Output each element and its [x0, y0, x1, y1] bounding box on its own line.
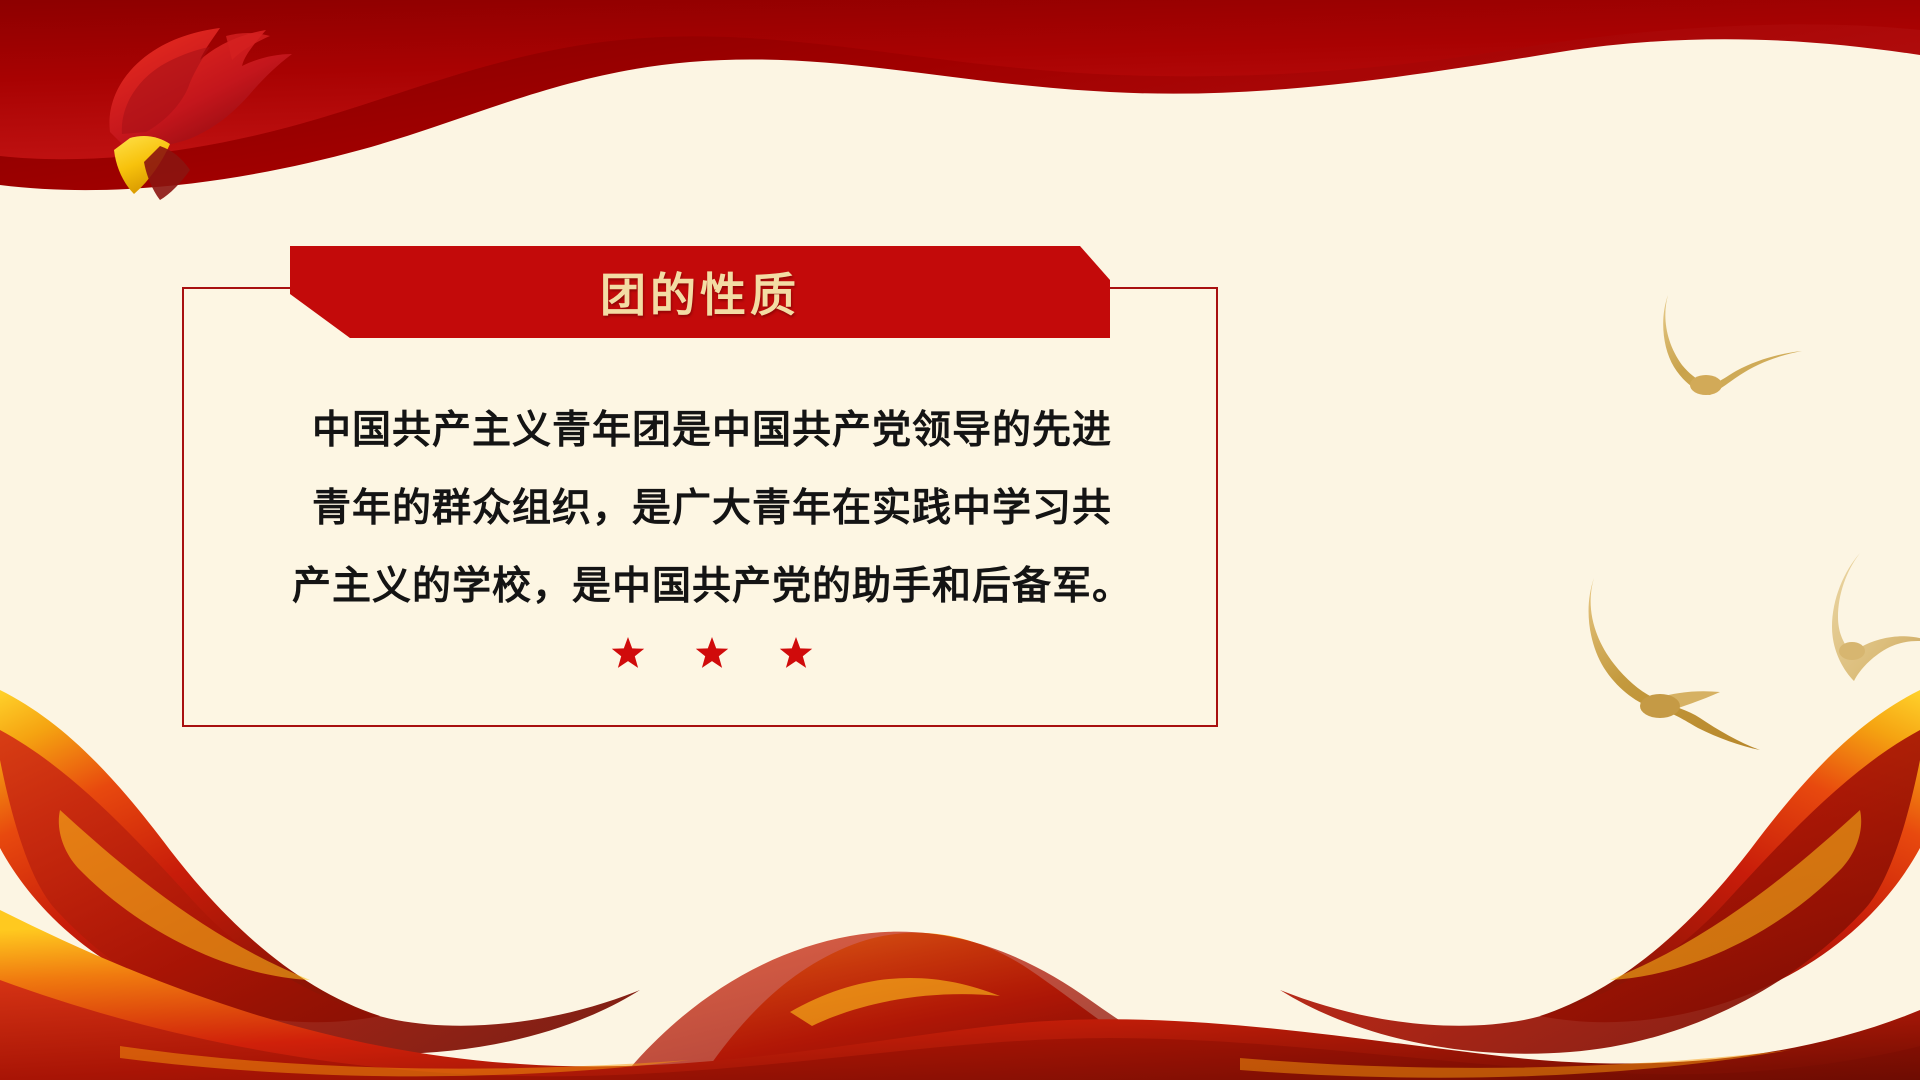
- dove-2-icon: [1580, 560, 1810, 760]
- title-banner: 团的性质: [290, 246, 1110, 338]
- body-line-3: 产主义的学校，是中国共产党的助手和后备军。: [282, 548, 1142, 626]
- star-divider: [282, 636, 1142, 670]
- body-line-1: 中国共产主义青年团是中国共产党领导的先进: [282, 392, 1142, 470]
- slide-canvas: 团的性质 中国共产主义青年团是中国共产党领导的先进 青年的群众组织，是广大青年在…: [0, 0, 1920, 1080]
- dove-1-icon: [1640, 285, 1810, 415]
- body-line-2: 青年的群众组织，是广大青年在实践中学习共: [282, 470, 1142, 548]
- star-3-icon: [779, 636, 813, 670]
- page-title: 团的性质: [600, 272, 800, 318]
- dove-3-icon: [1790, 545, 1920, 695]
- star-1-icon: [611, 636, 645, 670]
- body-text-block: 中国共产主义青年团是中国共产党领导的先进 青年的群众组织，是广大青年在实践中学习…: [282, 392, 1142, 626]
- star-2-icon: [695, 636, 729, 670]
- torch-flame-icon: [100, 22, 300, 202]
